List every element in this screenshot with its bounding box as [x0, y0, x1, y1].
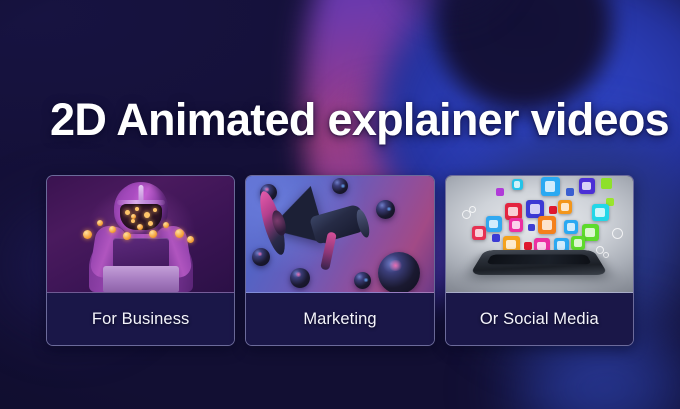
category-card-label: For Business [92, 310, 190, 329]
floating-sphere-large [378, 252, 420, 293]
marketing-megaphone-illustration [246, 176, 433, 293]
app-icon [558, 200, 572, 214]
coin [187, 236, 194, 243]
category-card-label: Or Social Media [480, 310, 599, 329]
app-dot [566, 188, 574, 196]
app-icon [486, 216, 502, 232]
category-card-or-social-media[interactable]: Or Social Media [445, 175, 634, 346]
coin [163, 222, 169, 228]
laptop-lid [113, 238, 169, 268]
app-icon [571, 236, 585, 250]
app-icon [541, 177, 560, 196]
coin [83, 230, 92, 239]
category-card-marketing[interactable]: Marketing [245, 175, 434, 346]
smartphone [470, 250, 609, 275]
laptop-base [103, 266, 179, 292]
astronaut-figure [87, 180, 195, 292]
category-card-label: Marketing [303, 310, 376, 329]
coin [131, 214, 136, 219]
category-card-label-band: Marketing [246, 293, 433, 345]
coin [97, 220, 103, 226]
social-media-phone-apps-illustration [446, 176, 633, 293]
coin [123, 232, 131, 240]
page-title: 2D Animated explainer videos [50, 96, 650, 144]
coin [175, 229, 184, 238]
coin [149, 230, 157, 238]
app-icon [564, 220, 578, 234]
app-icon [538, 216, 556, 234]
decorative-ring [603, 252, 609, 258]
category-card-for-business[interactable]: For Business [46, 175, 235, 346]
app-icon [509, 218, 523, 232]
app-dot [601, 178, 612, 189]
app-dot [492, 234, 500, 242]
decorative-ring [469, 206, 476, 213]
decorative-ring [612, 228, 623, 239]
app-icon [579, 178, 595, 194]
app-dot [549, 206, 557, 214]
app-icon [472, 226, 486, 240]
coin [109, 226, 116, 233]
app-icon [512, 179, 523, 190]
app-dot [496, 188, 504, 196]
category-card-label-band: For Business [47, 293, 234, 345]
app-icon [592, 204, 609, 221]
coin [137, 224, 143, 230]
business-astronaut-laptop-illustration [47, 176, 234, 293]
category-card-list: For Business Marketing [46, 175, 634, 346]
app-dot [528, 224, 535, 231]
category-card-label-band: Or Social Media [446, 293, 633, 345]
